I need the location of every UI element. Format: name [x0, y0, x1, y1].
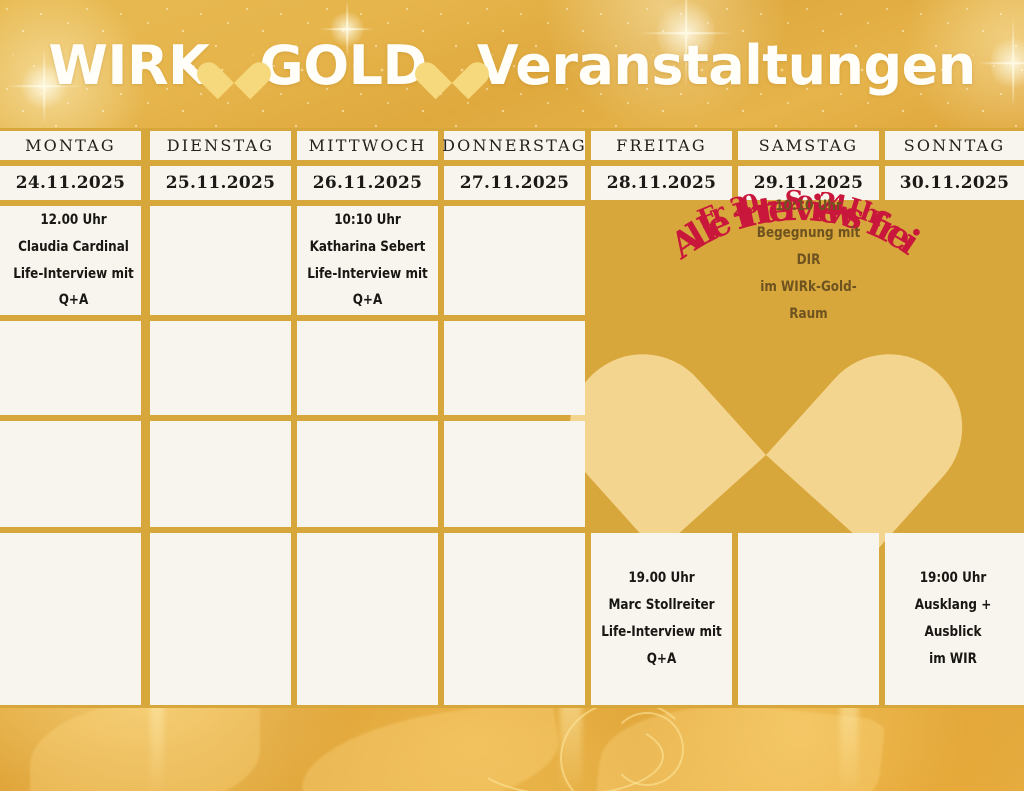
day-date-25.11.2025: 25.11.2025	[150, 166, 291, 200]
calendar-poster: WIRK GOLD Veranstaltungen MONTAG24.11.20…	[0, 0, 1024, 791]
day-date-27.11.2025: 27.11.2025	[444, 166, 585, 200]
calendar-cell[interactable]	[150, 421, 291, 527]
event-entry[interactable]: 10:10 UhrBegegnung mit DIRim WIRk-Gold-R…	[744, 206, 874, 315]
day-header-montag: MONTAG	[0, 131, 141, 160]
calendar-cell[interactable]	[591, 321, 732, 415]
calendar-cell[interactable]	[150, 206, 291, 315]
event-detail: im WIR	[929, 646, 977, 673]
heart-icon	[211, 45, 257, 87]
calendar-cell[interactable]	[444, 206, 585, 315]
calendar-cell[interactable]	[885, 421, 1024, 527]
event-person: Claudia Cardinal	[18, 234, 129, 261]
day-header-samstag: SAMSTAG	[738, 131, 879, 160]
calendar-cell[interactable]	[591, 206, 732, 315]
calendar-cell[interactable]	[738, 421, 879, 527]
bottom-decoration	[0, 708, 1024, 791]
heart-icon	[429, 45, 475, 87]
page-title: WIRK GOLD Veranstaltungen	[0, 30, 1024, 102]
event-person: Katharina Sebert	[310, 234, 426, 261]
calendar-cell[interactable]	[885, 321, 1024, 415]
event-person: Marc Stollreiter	[608, 592, 714, 619]
day-date-28.11.2025: 28.11.2025	[591, 166, 732, 200]
event-detail: Life-Interview mit Q+A	[9, 261, 139, 315]
event-time: 12.00 Uhr	[40, 207, 106, 234]
day-header-dienstag: DIENSTAG	[150, 131, 291, 160]
event-time: 10:10 Uhr	[334, 207, 401, 234]
calendar-cell[interactable]	[297, 421, 438, 527]
calendar-grid: MONTAG24.11.2025DIENSTAG25.11.2025MITTWO…	[0, 128, 1024, 708]
event-detail: Life-Interview mit Q+A	[597, 619, 727, 673]
title-word-veranstaltungen: Veranstaltungen	[477, 39, 976, 93]
calendar-cell[interactable]	[0, 421, 141, 527]
calendar-cell[interactable]	[444, 533, 585, 705]
day-header-freitag: FREITAG	[591, 131, 732, 160]
calendar-cell[interactable]	[297, 321, 438, 415]
calendar-cell[interactable]	[0, 533, 141, 705]
title-word-wirk: WIRK	[48, 39, 209, 93]
calendar-cell[interactable]	[150, 321, 291, 415]
day-header-mittwoch: MITTWOCH	[297, 131, 438, 160]
calendar-cell[interactable]	[738, 321, 879, 415]
day-header-donnerstag: DONNERSTAG	[444, 131, 585, 160]
event-entry[interactable]: 10:10 UhrKatharina SebertLife-Interview …	[303, 206, 433, 315]
poster-header: WIRK GOLD Veranstaltungen	[0, 0, 1024, 130]
day-header-sonntag: SONNTAG	[885, 131, 1024, 160]
event-detail: im WIRk-Gold-Raum	[744, 274, 874, 328]
day-date-24.11.2025: 24.11.2025	[0, 166, 141, 200]
event-entry[interactable]: 19.00 UhrMarc StollreiterLife-Interview …	[597, 533, 727, 705]
calendar-cell[interactable]	[297, 533, 438, 705]
event-entry[interactable]: 12.00 UhrClaudia CardinalLife-Interview …	[9, 206, 139, 315]
calendar-cell[interactable]	[738, 533, 879, 705]
event-time: 19.00 Uhr	[628, 565, 694, 592]
calendar-cell[interactable]	[885, 206, 1024, 315]
calendar-cell[interactable]	[444, 321, 585, 415]
event-person: Ausklang + Ausblick	[890, 592, 1015, 646]
event-entry[interactable]: 19:00 UhrAusklang + Ausblickim WIR	[890, 533, 1015, 705]
event-person: Begegnung mit DIR	[744, 220, 874, 274]
calendar-cell[interactable]	[591, 421, 732, 527]
event-detail: Life-Interview mit Q+A	[303, 261, 433, 315]
event-time: 19:00 Uhr	[920, 565, 987, 592]
calendar-cell[interactable]	[444, 421, 585, 527]
day-date-30.11.2025: 30.11.2025	[885, 166, 1024, 200]
day-date-26.11.2025: 26.11.2025	[297, 166, 438, 200]
calendar-cell[interactable]	[150, 533, 291, 705]
event-time: 10:10 Uhr	[775, 193, 842, 220]
title-word-gold: GOLD	[259, 39, 426, 93]
calendar-cell[interactable]	[0, 321, 141, 415]
